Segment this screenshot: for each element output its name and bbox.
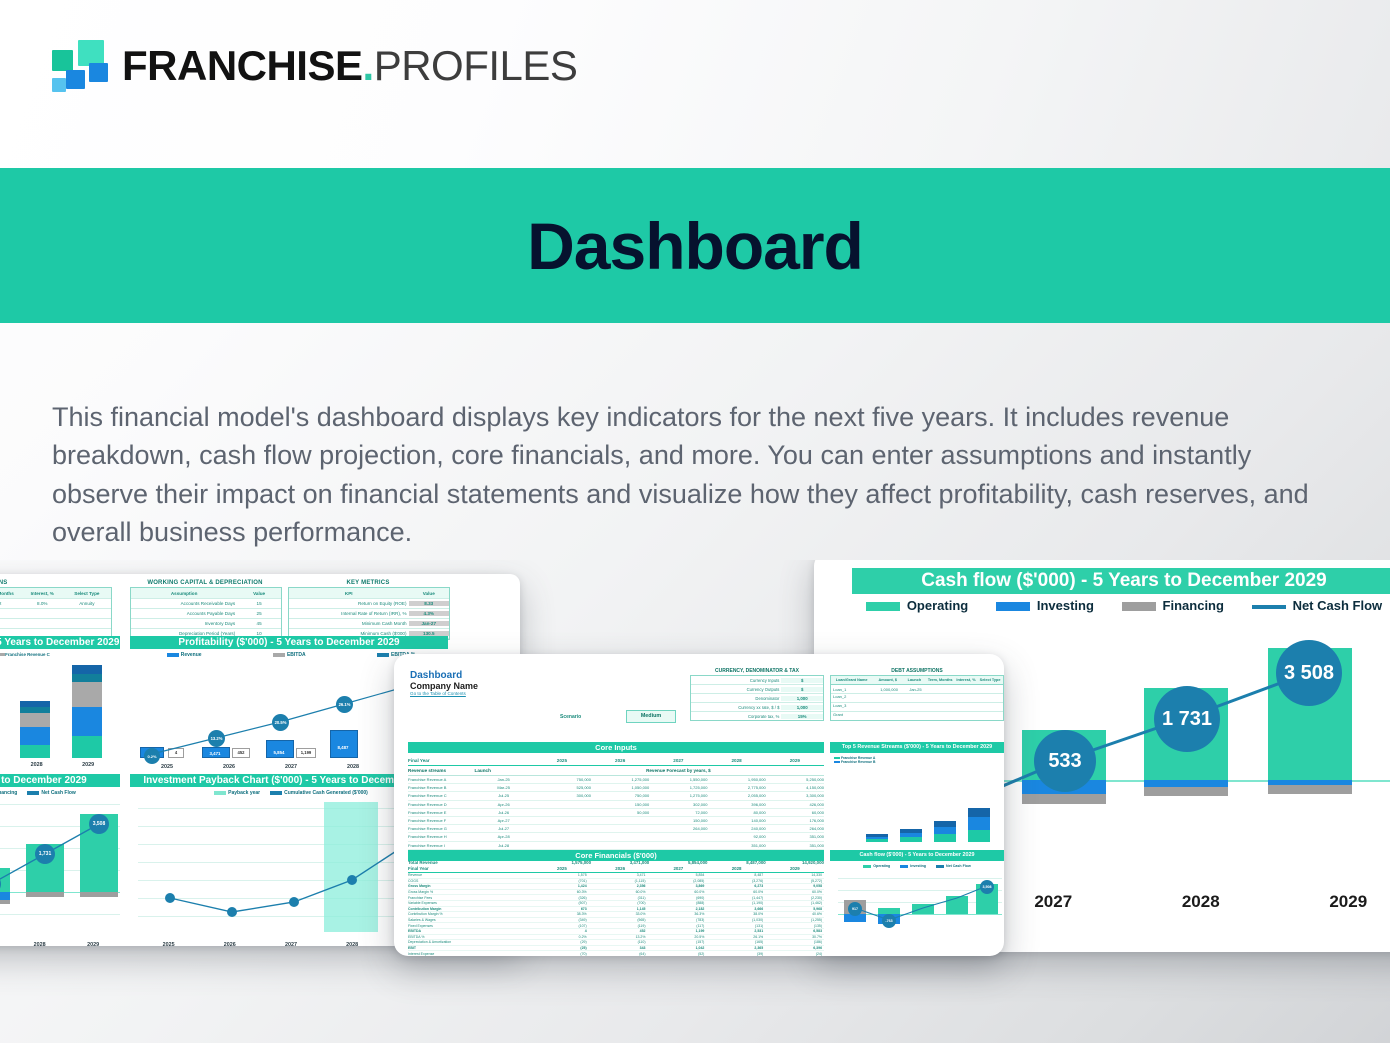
row-value: (349): [530, 918, 589, 922]
row-value: 2,365: [706, 946, 765, 950]
legend-item-netcashflow: Net Cash Flow: [1252, 598, 1383, 613]
debt-col-header: Term, Months: [0, 591, 22, 596]
cf-bubble: 1,731: [35, 844, 55, 864]
currency-row-value[interactable]: 15%: [781, 714, 823, 719]
wc-cell: Accounts Payable Days: [131, 611, 237, 616]
row-value: 0.2%: [530, 935, 589, 939]
row-value: 3,471: [589, 873, 648, 877]
front-debt-header: DEBT ASSUMPTIONS: [830, 668, 1004, 674]
slide-page: FRANCHISE.PROFILES Dashboard This financ…: [0, 0, 1390, 1043]
debt-col-header: Interest, %: [22, 591, 63, 596]
row-value: (165): [706, 940, 765, 944]
front-card-content: Dashboard Company Name Go to the Table o…: [394, 654, 1004, 956]
front-debt-col: Interest, %: [955, 678, 977, 682]
table-row: Interest Expense(70)(64)(52)(39)(24): [408, 951, 824, 956]
row-value: 60.0%: [648, 890, 707, 894]
screenshot-collage: & TAX $ $ 1,000 1,000 15% DEBT ASSUMPTIO…: [0, 560, 1390, 1043]
front-debt-cell: Jan-25: [904, 687, 926, 692]
working-capital-table: Assumption Value Accounts Receivable Day…: [130, 587, 282, 640]
row-value: 5,854: [648, 873, 707, 877]
debt-assumptions-table: Loan/Grant Name Amount, $ Launch Term, M…: [0, 587, 112, 640]
top5-plot: [0, 658, 114, 758]
kpi-cell: 4.3%: [409, 611, 449, 616]
legend-item: Revenue: [167, 652, 202, 658]
front-cashflow-legend: Operating Investing Net Cash Flow: [832, 864, 1002, 868]
cashflow-hero-title: Cash flow ($'000) - 5 Years to December …: [852, 568, 1390, 594]
currency-row-label: Denominator: [691, 696, 781, 701]
cashflow-left-legend: Operating Investing Financing Net Cash F…: [0, 790, 116, 796]
legend-item-financing: Financing: [1122, 598, 1224, 613]
cashflow-left-title: Cash flow ($'000) - 5 Years to December …: [0, 774, 120, 787]
row-value: (117): [648, 924, 707, 928]
financial-rows: Revenue1,5753,4715,8548,48714,330COGS(70…: [408, 873, 824, 956]
front-dashboard-label: Dashboard: [410, 670, 478, 681]
currency-row-value[interactable]: 1,000: [781, 705, 823, 710]
front-debt-cell: 1,000,000: [874, 687, 905, 692]
top5-xaxis: 2025 2026 2027 2028 2029: [0, 762, 114, 768]
kpi-cell: 8.33: [409, 601, 449, 606]
currency-row-label: Currency Inputs: [691, 678, 781, 683]
brand-wordmark: FRANCHISE.PROFILES: [122, 45, 577, 87]
row-label: EBITDA: [408, 929, 530, 933]
front-debt-col: Select Type: [977, 678, 1003, 682]
legend-item-investing: Investing: [996, 598, 1094, 613]
intro-paragraph: This financial model's dashboard display…: [52, 398, 1340, 551]
row-value: 9,058: [765, 884, 824, 888]
cashflow-left-xaxis: 2025 2026 2027 2028 2029: [0, 942, 120, 946]
row-value: (107): [530, 924, 589, 928]
cf-bubble: 917: [848, 902, 862, 916]
x-tick-2028: 2028: [1127, 892, 1275, 912]
row-value: (1,447): [706, 896, 765, 900]
row-label: Franchise Fees: [408, 896, 530, 900]
row-value: (52): [648, 952, 707, 956]
row-value: (326): [530, 896, 589, 900]
front-dashboard-card[interactable]: Dashboard Company Name Go to the Table o…: [394, 654, 1004, 956]
front-debt-block: DEBT ASSUMPTIONS Loan/Grant Name Amount,…: [830, 668, 1004, 721]
launch-label: Launch: [475, 768, 533, 773]
brand-dot: .: [363, 42, 374, 89]
front-cashflow-plot: 917 -763 3,508: [838, 874, 1002, 936]
front-debt-col: Launch: [903, 678, 925, 682]
row-value: (565): [589, 918, 648, 922]
row-value: 1,199: [648, 929, 707, 933]
row-value: 452: [589, 929, 648, 933]
wc-col-header: Value: [237, 591, 281, 596]
fin-final-year-label: Final Year: [408, 866, 533, 871]
front-card-heading: Dashboard Company Name Go to the Table o…: [410, 670, 478, 696]
debt-col-header: Select Type: [63, 591, 111, 596]
debt-assumptions-header: DEBT ASSUMPTIONS: [0, 580, 110, 586]
front-top5-plot: [834, 770, 1002, 842]
legend-item: EBITDA: [273, 652, 306, 658]
row-value: 1,145: [589, 907, 648, 911]
title-banner: Dashboard: [0, 168, 1390, 323]
year-col: 2025: [533, 758, 591, 763]
key-metrics-block: KEY METRICS KPI Value Return on Equity (…: [288, 580, 448, 640]
row-value: 40.6%: [765, 912, 824, 916]
toc-link[interactable]: Go to the Table of Contents: [410, 691, 478, 696]
fin-year-col: 2026: [591, 866, 649, 871]
kpi-cell: Minimum Cash Month: [289, 621, 409, 626]
currency-row-value[interactable]: $: [781, 678, 823, 683]
brand-logo[interactable]: FRANCHISE.PROFILES: [52, 40, 577, 92]
legend-item: Net Cash Flow: [936, 864, 971, 868]
row-value: 38.0%: [706, 912, 765, 916]
row-value: 3,869: [648, 884, 707, 888]
kpi-cell: Internal Rate of Return (IRR), %: [289, 611, 409, 616]
row-value: 14,330: [765, 873, 824, 877]
row-value: (24): [765, 952, 824, 956]
year-col: 2027: [649, 758, 707, 763]
currency-header: CURRENCY, DENOMINATOR & TAX: [690, 668, 824, 674]
row-value: 673: [530, 907, 589, 911]
row-value: (1,462): [765, 901, 824, 905]
row-value: (3,276): [706, 879, 765, 883]
wc-col-header: Assumption: [131, 591, 237, 596]
row-label: EBITDA %: [408, 935, 530, 939]
cashflow-left-plot: 917 -763 533 1,731 3,508: [0, 800, 120, 938]
currency-row-value[interactable]: 1,000: [781, 696, 823, 701]
final-year-label: Final Year: [408, 758, 533, 763]
brand-name-light: PROFILES: [374, 42, 578, 89]
row-value: 3,666: [706, 907, 765, 911]
row-value: 33.0%: [589, 912, 648, 916]
cf-bubble: 3,508: [980, 880, 994, 894]
row-value: 60.0%: [765, 890, 824, 894]
logo-squares-icon: [52, 40, 106, 92]
row-value: 4: [530, 929, 589, 933]
fin-year-col: 2028: [708, 866, 766, 871]
row-label: Gross Margin %: [408, 890, 530, 894]
page-title: Dashboard: [0, 168, 1390, 323]
row-value: 2,356: [589, 884, 648, 888]
year-col: 2028: [708, 758, 766, 763]
blue-square-icon: [66, 70, 85, 89]
core-financials-header: Core Financials ($'000): [408, 850, 824, 861]
legend-item: Net Cash Flow: [27, 790, 75, 796]
kpi-col-header: Value: [409, 591, 449, 596]
scenario-label: Scenario: [560, 714, 581, 720]
pct-bubble: 13.2%: [208, 730, 225, 747]
cashflow-hero-legend: Operating Investing Financing Net Cash F…: [852, 598, 1390, 613]
row-value: (2,085): [648, 879, 707, 883]
row-value: 38.3%: [530, 912, 589, 916]
pct-bubble: 0.2%: [144, 748, 160, 764]
wc-cell: 25: [237, 611, 281, 616]
front-top5-header: Top 5 Revenue Streams ($'000) - 5 Years …: [830, 742, 1004, 753]
wc-cell: 15: [237, 601, 281, 606]
row-value: 60.0%: [589, 890, 648, 894]
brand-name-bold: FRANCHISE: [122, 42, 363, 89]
kpi-cell: Return on Equity (ROE): [289, 601, 409, 606]
row-value: 30.7%: [765, 935, 824, 939]
revenue-streams-label: Revenue streams: [408, 768, 475, 773]
row-value: 343: [589, 946, 648, 950]
legend-item: Franchise Revenue C: [0, 652, 50, 657]
row-value: (311): [589, 896, 648, 900]
core-inputs-header: Core Inputs: [408, 742, 824, 753]
value-bubble-2029: 3 508: [1276, 640, 1342, 706]
row-value: 20.5%: [648, 935, 707, 939]
legend-item: Payback year: [214, 790, 260, 796]
row-value: 60.0%: [706, 890, 765, 894]
row-value: (888): [648, 901, 707, 905]
row-value: (186): [765, 940, 824, 944]
key-metrics-table: KPI Value Return on Equity (ROE)8.33 Int…: [288, 587, 450, 640]
kpi-col-header: KPI: [289, 591, 409, 596]
row-value: (157): [648, 940, 707, 944]
cf-bubble: 3,508: [89, 814, 109, 834]
row-value: 2,182: [648, 907, 707, 911]
row-value: (700): [589, 901, 648, 905]
working-capital-header: WORKING CAPITAL & DEPRECIATION: [130, 580, 280, 586]
value-bubble-2028: 1 731: [1154, 686, 1220, 752]
row-value: (783): [648, 918, 707, 922]
fin-year-col: 2025: [533, 866, 591, 871]
currency-row-label: Currency xx rate, $ / $: [691, 705, 781, 710]
scenario-select[interactable]: Medium: [626, 710, 676, 723]
working-capital-block: WORKING CAPITAL & DEPRECIATION Assumptio…: [130, 580, 280, 640]
row-value: 6,273: [706, 884, 765, 888]
wc-cell: Inventory Days: [131, 621, 237, 626]
row-value: (119): [589, 924, 648, 928]
debt-cell: 8.0%: [22, 601, 63, 606]
row-value: 1,575: [530, 873, 589, 877]
row-value: (507): [530, 901, 589, 905]
debt-cell: 72: [0, 601, 22, 606]
year-col: 2026: [591, 758, 649, 763]
row-value: (64): [589, 952, 648, 956]
currency-row-label: Currency Outputs: [691, 687, 781, 692]
wc-cell: Accounts Receivable Days: [131, 601, 237, 606]
front-debt-col: Term, Months: [926, 678, 955, 682]
legend-item: Cumulative Cash Generated ($'000): [270, 790, 368, 796]
page-header: FRANCHISE.PROFILES: [0, 0, 1390, 168]
stacked-bar-2029: [72, 658, 102, 758]
row-value: (2,230): [765, 896, 824, 900]
cf-bubble: -763: [882, 914, 896, 928]
row-value: (1,030): [706, 918, 765, 922]
stacked-bar-2028: [20, 658, 50, 758]
core-financials-table: Final Year 2025 2026 2027 2028 2029 Reve…: [408, 864, 824, 956]
currency-row-value[interactable]: $: [781, 687, 823, 692]
currency-row-label: Corporate tax, %: [691, 714, 781, 719]
row-value: 5,968: [765, 907, 824, 911]
row-value: (1,115): [589, 879, 648, 883]
legend-item: Investing: [900, 864, 926, 868]
legend-item: Operating: [863, 864, 890, 868]
fin-year-col: 2027: [649, 866, 707, 871]
profitability-title: Profitability ($'000) - 5 Years to Decem…: [130, 636, 448, 649]
front-company-name: Company Name: [410, 681, 478, 691]
row-value: (25): [530, 946, 589, 950]
row-value: 36.3%: [648, 912, 707, 916]
row-value: 2,531: [706, 929, 765, 933]
row-label: Contribution Margin: [408, 907, 530, 911]
fin-year-col: 2029: [766, 866, 824, 871]
light-blue-square-icon: [52, 78, 66, 92]
row-label: Contribution Margin %: [408, 912, 530, 916]
row-value: (1,190): [706, 901, 765, 905]
row-value: (29): [530, 940, 589, 944]
row-label: Interest Expense: [408, 952, 530, 956]
front-debt-col: Loan/Grant Name: [831, 678, 872, 682]
debt-cell: Annuity: [63, 601, 111, 606]
row-value: (135): [765, 924, 824, 928]
legend-item-operating: Operating: [866, 598, 968, 613]
row-label: Variable Expenses: [408, 901, 530, 905]
legend-item: Financing: [0, 790, 17, 796]
row-value: 1,042: [648, 946, 707, 950]
front-top5-legend: Franchise Revenue A Franchise Revenue B: [834, 756, 875, 764]
currency-block: CURRENCY, DENOMINATOR & TAX Currency Inp…: [690, 668, 824, 721]
key-metrics-header: KEY METRICS: [288, 580, 448, 586]
row-value: (701): [530, 879, 589, 883]
row-label: Revenue: [408, 873, 530, 877]
row-label: Gross Margin: [408, 884, 530, 888]
debt-assumptions-block: DEBT ASSUMPTIONS Loan/Grant Name Amount,…: [0, 580, 110, 640]
row-label: EBIT: [408, 946, 530, 950]
row-label: Fixed Expenses: [408, 924, 530, 928]
row-label: Salaries & Wages: [408, 918, 530, 922]
row-value: 6,396: [765, 946, 824, 950]
wc-cell: 45: [237, 621, 281, 626]
row-value: (39): [706, 952, 765, 956]
row-value: (1,255): [765, 918, 824, 922]
row-value: (70): [530, 952, 589, 956]
row-value: 26.1%: [706, 935, 765, 939]
teal-square-icon: [52, 50, 73, 71]
pct-bubble: 26.1%: [336, 696, 353, 713]
year-col: 2029: [766, 758, 824, 763]
front-debt-col: Amount, $: [872, 678, 903, 682]
value-bubble-2027: 533: [1034, 730, 1096, 792]
row-value: 8,487: [706, 873, 765, 877]
row-label: Depreciation & Amortization: [408, 940, 530, 944]
row-value: (5,272): [765, 879, 824, 883]
row-value: (131): [706, 924, 765, 928]
top5-revenue-title: Top 5 Revenue Streams ($'000) - 5 Years …: [0, 636, 120, 649]
row-value: 6,583: [765, 929, 824, 933]
row-value: (110): [589, 940, 648, 944]
forecast-label: Revenue Forecast by years, $: [533, 768, 824, 773]
pct-bubble: 20.5%: [272, 714, 289, 731]
front-cashflow-header: Cash flow ($'000) - 5 Years to December …: [830, 850, 1004, 861]
blue-square-2-icon: [89, 63, 108, 82]
row-value: 13.2%: [589, 935, 648, 939]
row-value: (690): [648, 896, 707, 900]
kpi-cell: Jan-27: [409, 621, 449, 626]
row-value: 60.3%: [530, 890, 589, 894]
x-tick-2029: 2029: [1275, 892, 1390, 912]
row-value: 1,424: [530, 884, 589, 888]
row-label: COGS: [408, 879, 530, 883]
front-debt-cell: Loan_1: [831, 687, 874, 692]
